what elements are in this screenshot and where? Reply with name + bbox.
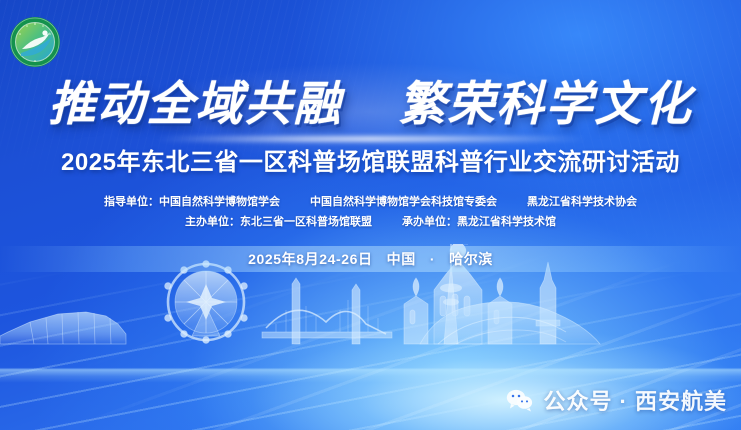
- association-emblem-logo: [9, 16, 61, 68]
- conference-banner: 推动全域共融 繁荣科学文化 2025年东北三省一区科普场馆联盟科普行业交流研讨活…: [0, 0, 741, 430]
- guidance-unit-2: 中国自然科学博物馆学会科技馆专委会: [310, 196, 497, 208]
- main-title: 推动全域共融 繁荣科学文化: [0, 76, 741, 132]
- host-label: 主办单位：: [185, 216, 240, 228]
- event-city: 哈尔滨: [449, 251, 493, 267]
- main-title-line-1: 推动全域共融: [48, 76, 342, 132]
- event-date: 2025年8月24-26日: [248, 251, 373, 267]
- host-value: 东北三省一区科普场馆联盟: [240, 216, 372, 228]
- event-info-text: 2025年8月24-26日中国·哈尔滨: [0, 249, 741, 269]
- guidance-units-label: 指导单位：: [104, 196, 159, 208]
- organizer-value: 黑龙江省科学技术馆: [457, 216, 556, 228]
- event-separator: ·: [430, 251, 435, 267]
- guidance-units-line: 指导单位：中国自然科学博物馆学会中国自然科学博物馆学会科技馆专委会黑龙江省科学技…: [0, 194, 741, 210]
- sub-title: 2025年东北三省一区科普场馆联盟科普行业交流研讨活动: [0, 148, 741, 178]
- event-country: 中国: [387, 251, 416, 267]
- guidance-unit-1: 中国自然科学博物馆学会: [159, 196, 280, 208]
- title-underline-sheen: [156, 136, 586, 142]
- organizer-label: 承办单位：: [402, 216, 457, 228]
- wechat-watermark: 公众号 · 西安航美: [506, 384, 727, 416]
- guidance-unit-3: 黑龙江省科学技术协会: [527, 196, 637, 208]
- wechat-watermark-text: 公众号 · 西安航美: [543, 384, 727, 416]
- host-units-line: 主办单位：东北三省一区科普场馆联盟承办单位：黑龙江省科学技术馆: [0, 214, 741, 230]
- main-title-line-2: 繁荣科学文化: [399, 76, 693, 132]
- wechat-icon: [506, 388, 534, 412]
